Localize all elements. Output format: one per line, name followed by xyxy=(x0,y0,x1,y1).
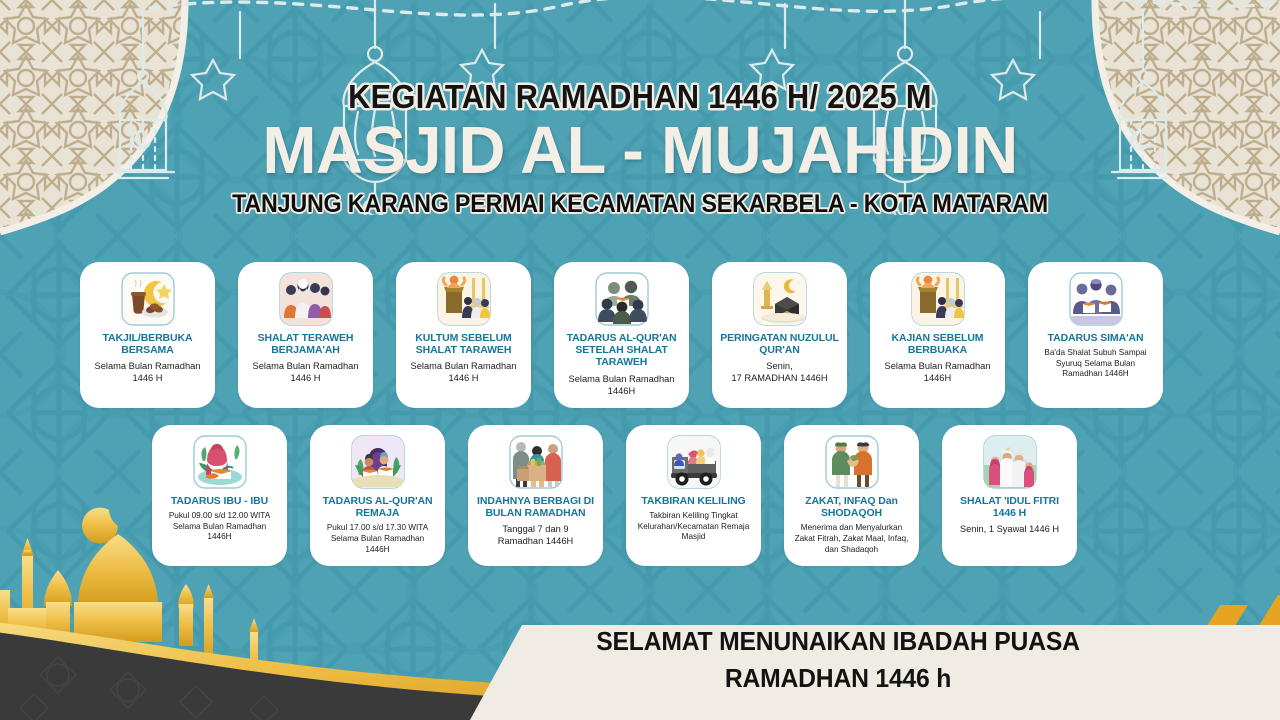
ramadhan-schedule-poster: KEGIATAN RAMADHAN 1446 H/ 2025 M MASJID … xyxy=(0,0,1280,720)
activity-row-2: TADARUS IBU - IBUPukul 09.00 s/d 12.00 W… xyxy=(152,425,1077,566)
footer-line-2: RAMADHAN 1446 h xyxy=(572,660,1104,697)
charity-donation-box-icon xyxy=(509,435,563,489)
quran-rehal-lantern-icon xyxy=(753,272,807,326)
activity-card-description: Senin, 1 Syawal 1446 H xyxy=(960,523,1059,535)
activity-card-title: KAJIAN SEBELUM BERBUAKA xyxy=(877,332,998,356)
activity-card-description: Pukul 09.00 s/d 12.00 WITASelama Bulan R… xyxy=(169,511,270,543)
takbir-truck-icon xyxy=(667,435,721,489)
activity-card: SHALAT 'IDUL FITRI 1446 HSenin, 1 Syawal… xyxy=(942,425,1077,566)
zakat-handshake-icon xyxy=(825,435,879,489)
activity-card-title: TADARUS AL-QUR'AN SETELAH SHALAT TARAWEH xyxy=(561,332,682,369)
activity-card-description: Menerima dan MenyalurkanZakat Fitrah, Za… xyxy=(795,523,909,555)
activity-card: KULTUM SEBELUM SHALAT TARAWEHSelama Bula… xyxy=(396,262,531,408)
footer-banner: SELAMAT MENUNAIKAN IBADAH PUASA RAMADHAN… xyxy=(430,595,1280,720)
youth-reading-quran-icon xyxy=(351,435,405,489)
activity-card-title: TADARUS AL-QUR'AN REMAJA xyxy=(317,495,438,519)
eid-family-icon xyxy=(983,435,1037,489)
activity-card: TADARUS AL-QUR'AN SETELAH SHALAT TARAWEH… xyxy=(554,262,689,408)
congregation-people-icon xyxy=(279,272,333,326)
activity-card-title: PERINGATAN NUZULUL QUR'AN xyxy=(719,332,840,356)
activity-card-description: Selama Bulan Ramadhan1446 H xyxy=(411,360,517,384)
activity-card: INDAHNYA BERBAGI DI BULAN RAMADHANTangga… xyxy=(468,425,603,566)
youth-reading-quran-icon xyxy=(351,435,405,489)
zakat-handshake-icon xyxy=(825,435,879,489)
activity-card-description: Selama Bulan Ramadhan1446 H xyxy=(95,360,201,384)
muslimah-reading-quran-icon xyxy=(193,435,247,489)
footer-line-1: SELAMAT MENUNAIKAN IBADAH PUASA xyxy=(596,626,1080,656)
activity-card-title: TAKJIL/BERBUKA BERSAMA xyxy=(87,332,208,356)
activity-card-title: INDAHNYA BERBAGI DI BULAN RAMADHAN xyxy=(475,495,596,519)
activity-card-description: Senin,17 RAMADHAN 1446H xyxy=(731,360,827,384)
activity-card: TAKBIRAN KELILINGTakbiran Keliling Tingk… xyxy=(626,425,761,566)
mimbar-lecture-icon xyxy=(911,272,965,326)
activity-card: SHALAT TERAWEH BERJAMA'AHSelama Bulan Ra… xyxy=(238,262,373,408)
mimbar-lecture-icon xyxy=(911,272,965,326)
activity-card-title: SHALAT 'IDUL FITRI 1446 H xyxy=(949,495,1070,519)
activity-card-title: SHALAT TERAWEH BERJAMA'AH xyxy=(245,332,366,356)
activity-card: TADARUS IBU - IBUPukul 09.00 s/d 12.00 W… xyxy=(152,425,287,566)
quran-study-circle-icon xyxy=(595,272,649,326)
header-address: TANJUNG KARANG PERMAI KECAMATAN SEKARBEL… xyxy=(45,190,1235,219)
activity-card: TADARUS SIMA'ANBa'da Shalat Subuh Sampai… xyxy=(1028,262,1163,408)
quran-reading-group-icon xyxy=(1069,272,1123,326)
activity-card-title: TADARUS IBU - IBU xyxy=(171,495,268,507)
quran-study-circle-icon xyxy=(595,272,649,326)
activity-card-title: TADARUS SIMA'AN xyxy=(1048,332,1144,344)
activity-card: TADARUS AL-QUR'AN REMAJAPukul 17.00 s/d … xyxy=(310,425,445,566)
activity-card: KAJIAN SEBELUM BERBUAKASelama Bulan Rama… xyxy=(870,262,1005,408)
page-title: MASJID AL - MUJAHIDIN xyxy=(19,118,1261,184)
takjil-dates-crescent-icon xyxy=(121,272,175,326)
activity-row-1: TAKJIL/BERBUKA BERSAMASelama Bulan Ramad… xyxy=(80,262,1163,408)
charity-donation-box-icon xyxy=(509,435,563,489)
mimbar-preacher-icon xyxy=(437,272,491,326)
activity-card-description: Ba'da Shalat Subuh SampaiSyuruq Selama B… xyxy=(1044,348,1146,380)
quran-reading-group-icon xyxy=(1069,272,1123,326)
mimbar-preacher-icon xyxy=(437,272,491,326)
activity-card: ZAKAT, INFAQ Dan SHODAQOHMenerima dan Me… xyxy=(784,425,919,566)
activity-card-title: TAKBIRAN KELILING xyxy=(641,495,745,507)
activity-card-description: Tanggal 7 dan 9Ramadhan 1446H xyxy=(498,523,573,547)
activity-card-description: Selama Bulan Ramadhan1446 H xyxy=(253,360,359,384)
congregation-people-icon xyxy=(279,272,333,326)
activity-card: TAKJIL/BERBUKA BERSAMASelama Bulan Ramad… xyxy=(80,262,215,408)
activity-card-description: Selama Bulan Ramadhan1446H xyxy=(885,360,991,384)
header-kicker: KEGIATAN RAMADHAN 1446 H/ 2025 M xyxy=(45,78,1235,116)
quran-rehal-lantern-icon xyxy=(753,272,807,326)
poster-header: KEGIATAN RAMADHAN 1446 H/ 2025 M MASJID … xyxy=(0,78,1280,219)
eid-family-icon xyxy=(983,435,1037,489)
activity-card-title: ZAKAT, INFAQ Dan SHODAQOH xyxy=(791,495,912,519)
takjil-dates-crescent-icon xyxy=(121,272,175,326)
activity-card-description: Takbiran Keliling TingkatKelurahan/Kecam… xyxy=(638,511,750,543)
activity-card-title: KULTUM SEBELUM SHALAT TARAWEH xyxy=(403,332,524,356)
activity-card-description: Pukul 17.00 s/d 17.30 WITASelama Bulan R… xyxy=(327,523,428,555)
muslimah-reading-quran-icon xyxy=(193,435,247,489)
takbir-truck-icon xyxy=(667,435,721,489)
activity-card-description: Selama Bulan Ramadhan1446H xyxy=(569,373,675,397)
activity-card: PERINGATAN NUZULUL QUR'ANSenin,17 RAMADH… xyxy=(712,262,847,408)
footer-message: SELAMAT MENUNAIKAN IBADAH PUASA RAMADHAN… xyxy=(572,623,1104,697)
